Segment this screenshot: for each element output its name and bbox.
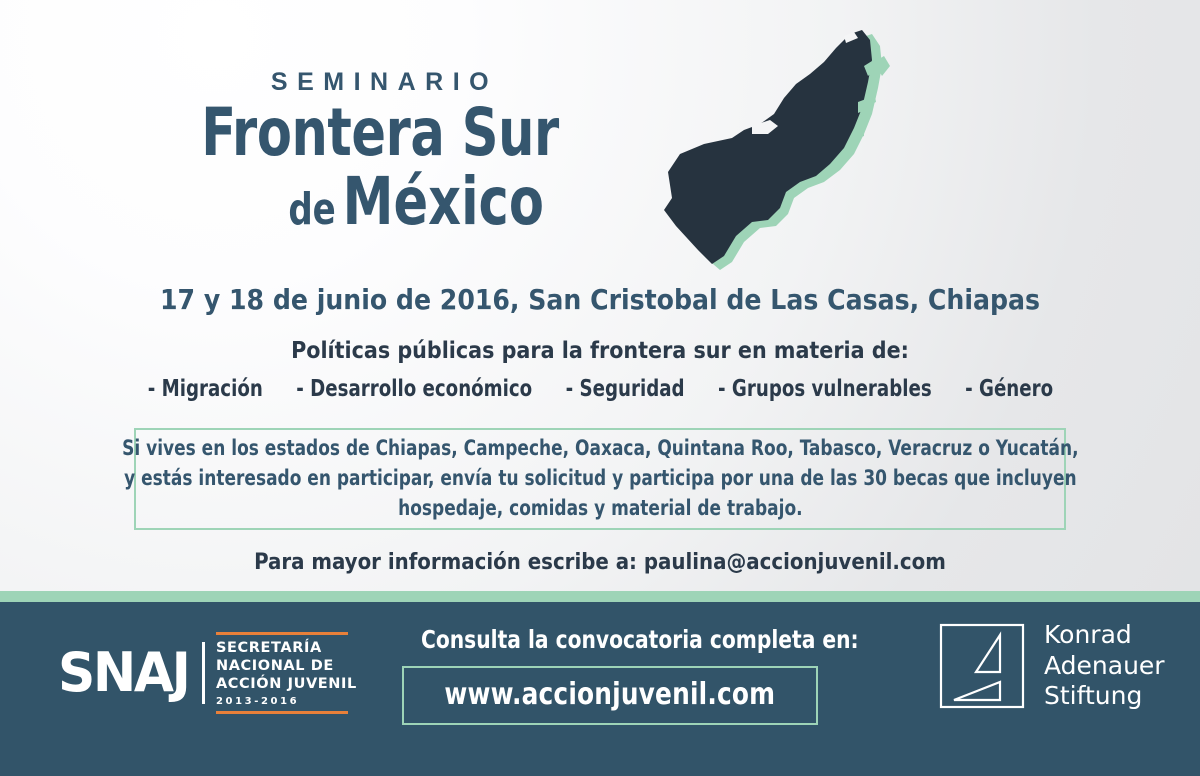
snaj-acronym: SNAJ bbox=[58, 646, 189, 700]
snaj-line-3: ACCIÓN JUVENIL bbox=[216, 676, 357, 694]
topics-list: - Migración- Desarrollo económico- Segur… bbox=[131, 376, 1070, 402]
snaj-text-block: SECRETARÍA NACIONAL DE ACCIÓN JUVENIL 20… bbox=[216, 632, 357, 714]
topic-desarrollo-economico: - Desarrollo económico bbox=[296, 376, 532, 402]
callout-line-2: y estás interesado en participar, envía … bbox=[122, 464, 1078, 494]
title-line-2: deMéxico bbox=[53, 168, 707, 235]
topic-grupos-vulnerables: - Grupos vulnerables bbox=[718, 376, 932, 402]
mint-divider-strip bbox=[0, 591, 1200, 602]
snaj-years: 2013-2016 bbox=[216, 694, 357, 708]
title-line-2-main: México bbox=[343, 163, 544, 240]
snaj-line-2: NACIONAL DE bbox=[216, 658, 357, 676]
snaj-lines: SECRETARÍA NACIONAL DE ACCIÓN JUVENIL 20… bbox=[216, 635, 357, 711]
topic-genero: - Género bbox=[965, 376, 1053, 402]
title-line-2-prefix: de bbox=[288, 184, 342, 235]
subtitle-text: Políticas públicas para la frontera sur … bbox=[291, 338, 909, 364]
poster-heading: SEMINARIO Frontera Sur deMéxico bbox=[0, 70, 760, 235]
kas-wordmark: Konrad Adenauer Stiftung bbox=[1044, 620, 1165, 712]
kas-a-mark-icon bbox=[938, 622, 1026, 710]
subtitle-line: Políticas públicas para la frontera sur … bbox=[0, 337, 1200, 364]
title-line-1: Frontera Sur bbox=[53, 101, 707, 166]
snaj-rule-bottom bbox=[216, 711, 348, 714]
kas-line-2: Adenauer bbox=[1044, 651, 1165, 682]
callout-line-1: Si vives en los estados de Chiapas, Camp… bbox=[122, 434, 1078, 464]
eligibility-callout-text: Si vives en los estados de Chiapas, Camp… bbox=[122, 434, 1078, 523]
kas-line-1: Konrad bbox=[1044, 620, 1165, 651]
date-location-line: 17 y 18 de junio de 2016, San Cristobal … bbox=[0, 283, 1200, 316]
contact-text: Para mayor información escribe a: paulin… bbox=[254, 550, 946, 575]
topic-migracion: - Migración bbox=[147, 376, 262, 402]
date-location-text: 17 y 18 de junio de 2016, San Cristobal … bbox=[160, 283, 1040, 316]
topic-seguridad: - Seguridad bbox=[565, 376, 684, 402]
poster-canvas: SEMINARIO Frontera Sur deMéxico 17 y 18 … bbox=[0, 0, 1200, 776]
snaj-divider bbox=[202, 642, 205, 704]
cta-headline: Consulta la convocatoria completa en: bbox=[421, 625, 799, 654]
contact-line: Para mayor información escribe a: paulin… bbox=[0, 549, 1200, 575]
eligibility-callout-box: Si vives en los estados de Chiapas, Camp… bbox=[134, 428, 1066, 530]
snaj-logo: SNAJ SECRETARÍA NACIONAL DE ACCIÓN JUVEN… bbox=[58, 632, 357, 714]
kicker-seminario: SEMINARIO bbox=[0, 70, 760, 95]
kas-line-3: Stiftung bbox=[1044, 681, 1165, 712]
topics-row: - Migración- Desarrollo económico- Segur… bbox=[0, 375, 1200, 402]
cta-url-text[interactable]: www.accionjuvenil.com bbox=[445, 677, 776, 712]
konrad-adenauer-stiftung-logo: Konrad Adenauer Stiftung bbox=[938, 620, 1165, 712]
callout-line-3: hospedaje, comidas y material de trabajo… bbox=[122, 494, 1078, 524]
cta-url-box[interactable]: www.accionjuvenil.com bbox=[402, 666, 818, 725]
snaj-line-1: SECRETARÍA bbox=[216, 640, 357, 658]
cta-block: Consulta la convocatoria completa en: ww… bbox=[400, 625, 820, 725]
